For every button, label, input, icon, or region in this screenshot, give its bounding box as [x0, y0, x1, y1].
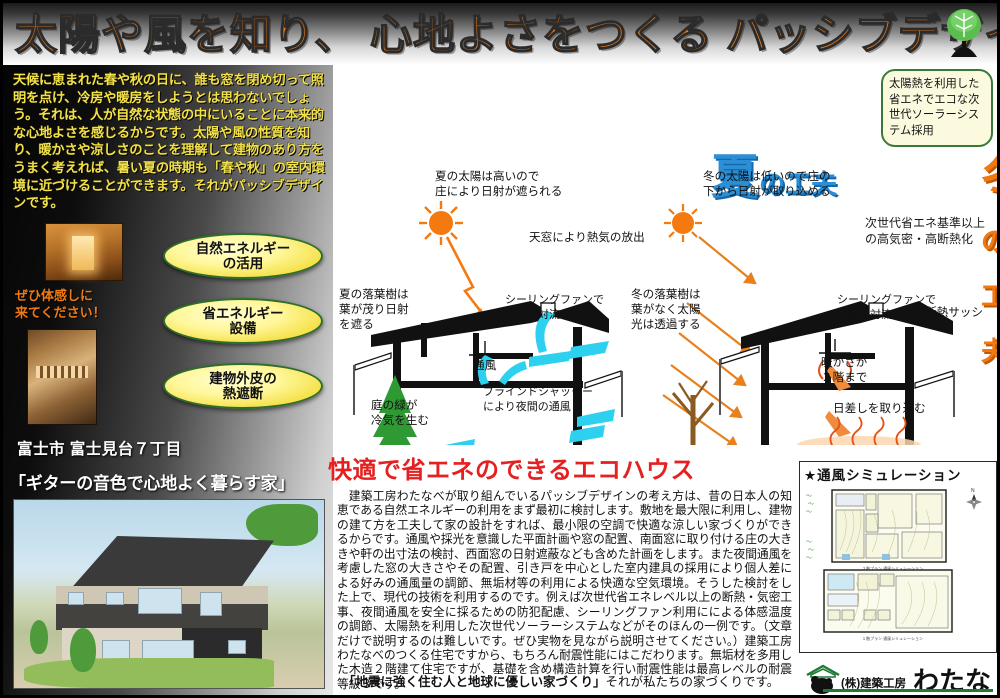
svg-text:〜: 〜 — [806, 540, 812, 546]
address-text: 富士市 富士見台７丁目 — [17, 437, 182, 459]
exterior-house-rendering — [13, 499, 325, 689]
winter-tree-annotation: 冬の落葉樹は 葉がなく太陽 光は透過する — [631, 287, 701, 332]
summer-sun-annotation: 夏の太陽は高いので 庄により日射が遮られる — [435, 169, 562, 199]
winter-sun-annotation: 冬の太陽は低いので庄の 下から日射が取り込める — [703, 169, 831, 199]
closing-rest-text: それが私たちの家づくりです。 — [606, 675, 780, 689]
logo-underline — [823, 689, 993, 692]
floor-plan-images: N — [802, 484, 994, 650]
summer-fan-annotation: シーリングファンで 空気の対流 — [505, 293, 604, 323]
poster-header: 太陽や風を知り、 心地よさをつくる パッシブデザイン — [3, 3, 997, 65]
svg-text:N: N — [971, 488, 975, 494]
left-panel: 天候に恵まれた春や秋の日に、誰も窓を閉め切って照明を点け、冷房や暖房をしようとは… — [3, 65, 333, 698]
svg-text:〜: 〜 — [808, 502, 814, 508]
interior-lantern-photo — [45, 223, 123, 281]
pill-3-line1: 建物外皮の — [209, 371, 277, 387]
plan-lower: １階プラン 通風シミュレーション — [824, 570, 952, 641]
svg-text:〜: 〜 — [806, 510, 812, 516]
plan-lower-caption: １階プラン 通風シミュレーション — [862, 635, 923, 641]
pill-2-line2: 設備 — [203, 321, 284, 337]
feature-pill-envelope-insulation[interactable]: 建物外皮の 熱遮断 — [163, 363, 323, 409]
winter-fan-annotation: シーリングファンで 空気の対流 — [837, 293, 936, 323]
winter-sun-icon — [664, 204, 702, 242]
pill-3-line2: 熱遮断 — [209, 386, 277, 402]
house-slogan-text: 「ギターの音色で心地よく暮らす家」 — [9, 469, 294, 494]
solar-system-note: 太陽熱を利用した省エネでエコな次世代ソーラーシステム採用 — [881, 69, 993, 147]
summer-sun-icon — [419, 201, 485, 317]
insulation-standard-note: 次世代省エネ基準以上 の高気密・高断熱化 — [865, 215, 1000, 247]
ventilation-simulation-box: ★通風シミュレーション N — [799, 461, 997, 653]
winter-sash-annotation: 断熱サッシ — [925, 305, 983, 320]
summer-blind-annotation: ブラインドシャッター により夜間の通風 — [483, 385, 593, 415]
eco-house-body-text: 建築工房わたなべが取り組んでいるパッシブデザインの考え方は、昔の日本人の知恵であ… — [337, 489, 792, 691]
pill-1-line1: 自然エネルギー — [196, 241, 291, 257]
tree-icon — [941, 7, 987, 61]
closing-statement: 「地震に強く住む人と地球に優しい家づくり」それが私たちの家づくりです。 — [343, 675, 793, 690]
svg-text:〜: 〜 — [806, 494, 812, 500]
svg-text:〜: 〜 — [806, 556, 812, 562]
closing-bold-text: 「地震に強く住む人と地球に優しい家づくり」 — [343, 675, 606, 689]
summer-skylight-annotation: 天窓により熱気の放出 — [529, 230, 645, 245]
company-brand-name: わたなべ — [913, 661, 995, 698]
eco-house-paragraph: 建築工房わたなべが取り組んでいるパッシブデザインの考え方は、昔の日本人の知恵であ… — [337, 489, 792, 691]
visit-invitation-text: ぜひ体感しに 来てください！ — [15, 287, 145, 321]
winter-ceiling-fan-icon — [819, 339, 851, 353]
eco-house-heading: 快適で省エネのできるエコハウス — [328, 450, 695, 485]
summer-vent-annotation: 通風 — [473, 358, 496, 373]
poster-root: 太陽や風を知り、 心地よさをつくる パッシブデザイン 天候に恵まれた春や秋の日に… — [0, 0, 1000, 698]
page-title: 太陽や風を知り、 心地よさをつくる パッシブデザイン — [15, 1, 1000, 62]
svg-text:〜: 〜 — [808, 548, 814, 554]
simulation-title: ★通風シミュレーション — [804, 464, 962, 484]
floorplan-svg: N — [802, 484, 994, 650]
plan-upper: ２階プラン 通風シミュレーション — [832, 490, 946, 571]
winter-warmth-annotation: 暖かさが ２階まで — [821, 355, 867, 385]
interior-stairs-photo — [27, 329, 97, 425]
wind-marks-icon: 〜〜〜 〜〜〜 — [806, 494, 814, 562]
feature-pill-energy-saving[interactable]: 省エネルギー 設備 — [163, 298, 323, 344]
company-logo[interactable]: (株)建築工房 わたなべ — [803, 663, 995, 697]
feature-pill-natural-energy[interactable]: 自然エネルギー の活用 — [163, 233, 323, 279]
winter-sunlight-annotation: 日差しを取り込む — [833, 401, 926, 416]
intro-paragraph: 天候に恵まれた春や秋の日に、誰も窓を閉め切って照明を点け、冷房や暖房をしようとは… — [13, 71, 331, 212]
compass-north-icon: N — [966, 488, 982, 510]
summer-tree-annotation: 夏の落葉樹は 葉が茂り日射 を遮る — [339, 287, 409, 332]
pill-2-line1: 省エネルギー — [203, 306, 284, 322]
summer-garden-annotation: 庭の緑が 冷気を生む — [371, 398, 429, 428]
pill-1-line2: の活用 — [196, 256, 291, 272]
